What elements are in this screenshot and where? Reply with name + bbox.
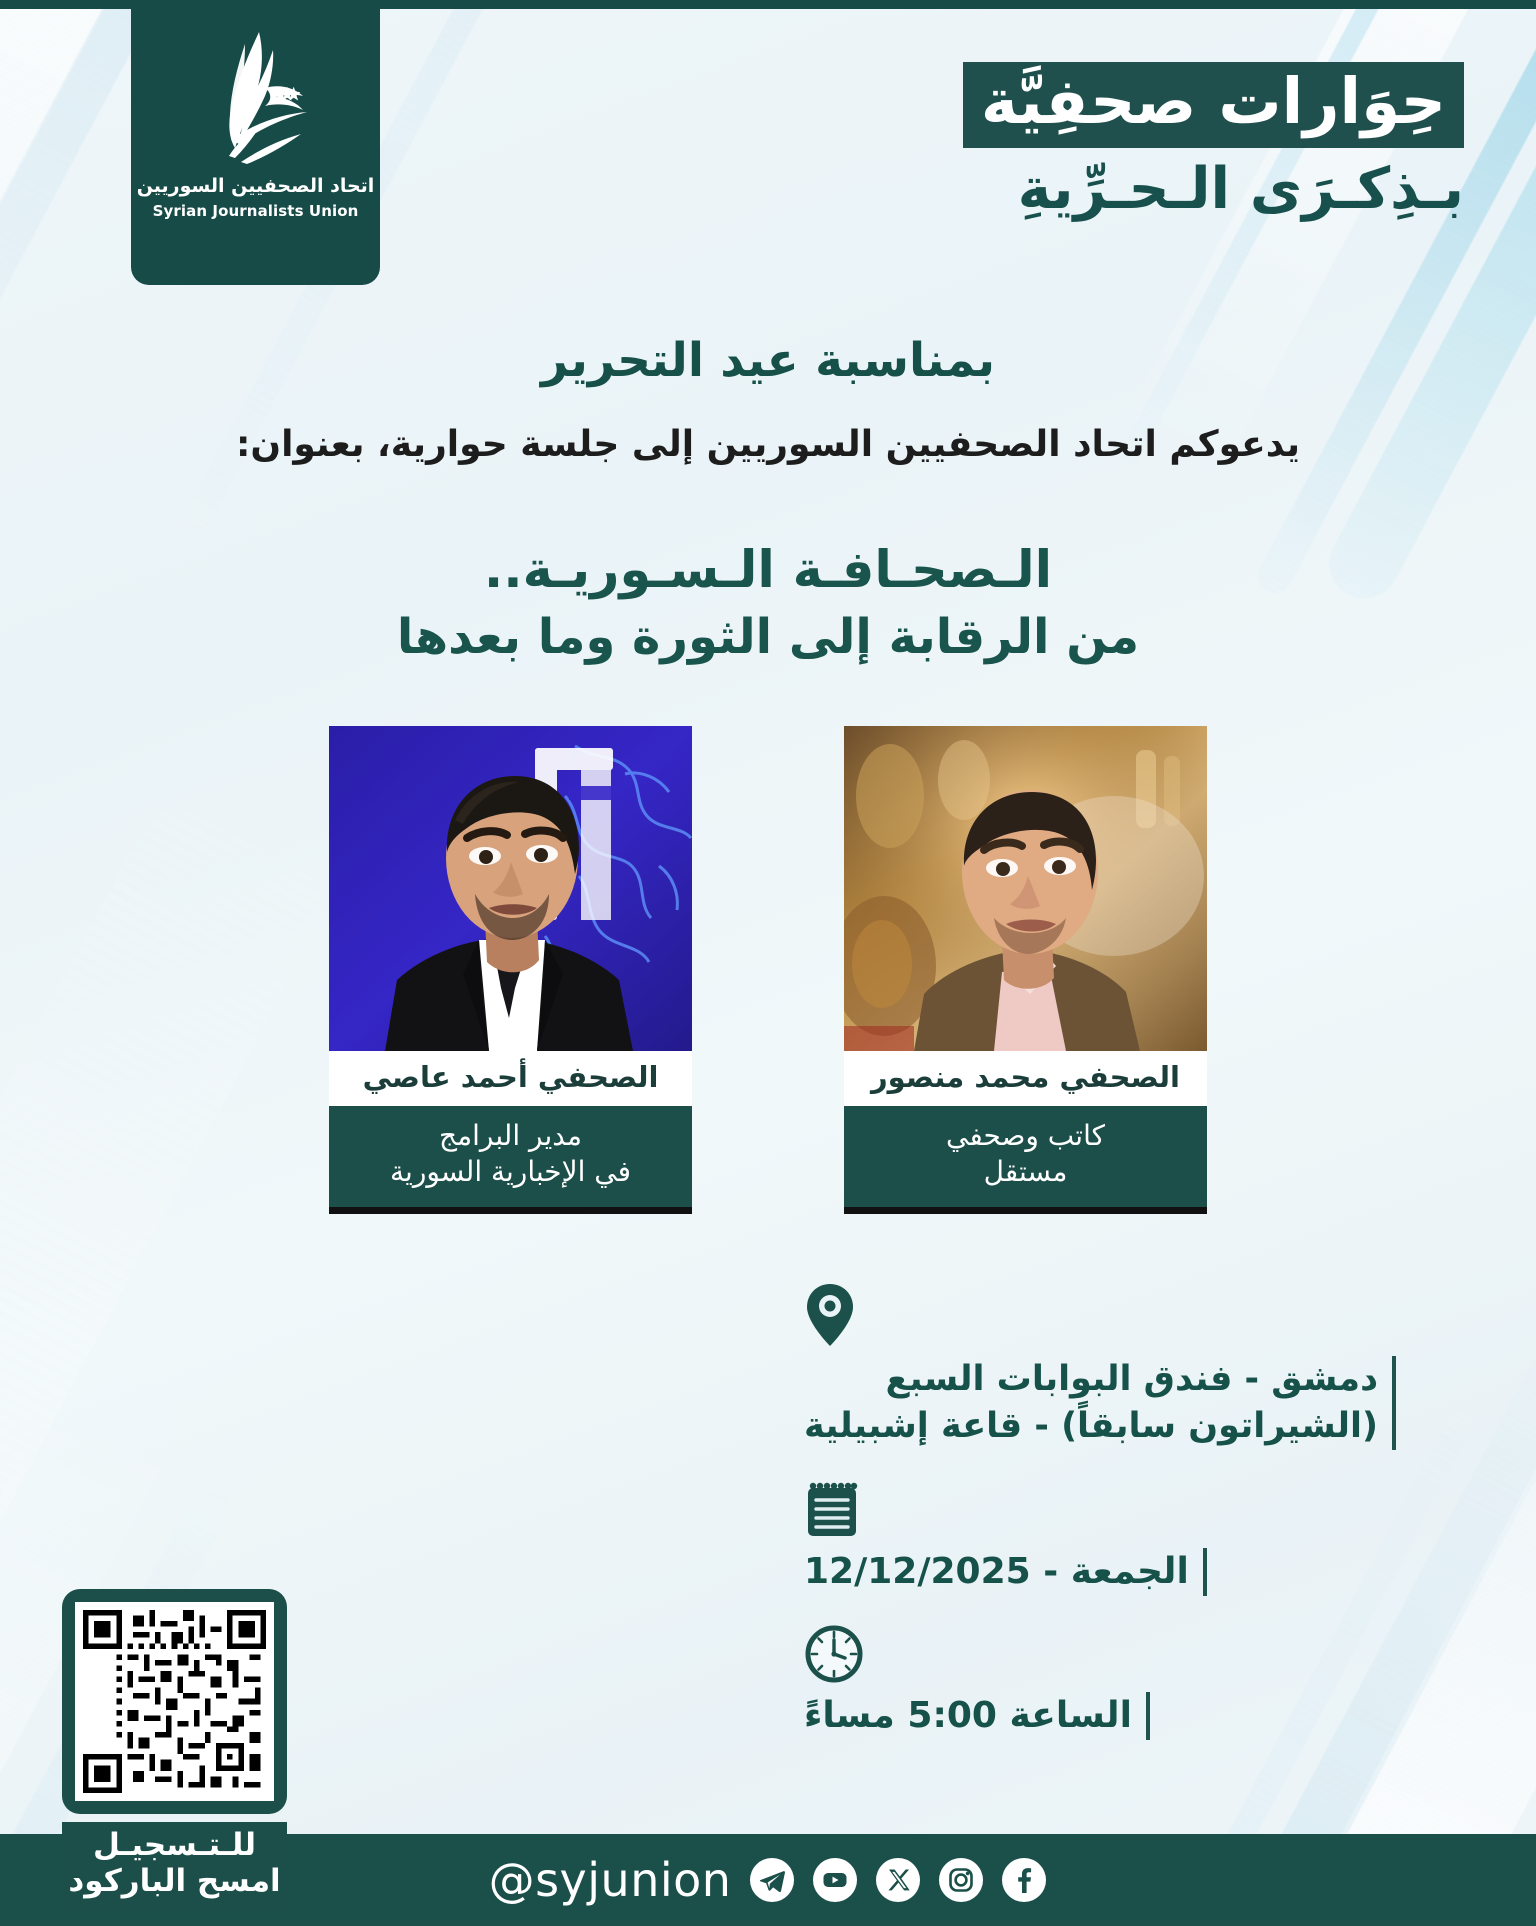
social-links (749, 1857, 1047, 1903)
detail-time: الساعة 5:00 مساءً (804, 1624, 1444, 1740)
feather-quill-stars-icon (181, 24, 331, 174)
location-line1: دمشق - فندق البوابات السبع (804, 1356, 1378, 1403)
map-pin-icon (804, 1282, 856, 1352)
speaker-name: الصحفي محمد منصور (844, 1051, 1207, 1106)
facebook-icon[interactable] (1001, 1857, 1047, 1903)
header-title-line1: حِوَارات صحفِيَّة (963, 62, 1464, 148)
logo-name-english: Syrian Journalists Union (153, 202, 359, 220)
speakers-list: الصحفي محمد منصور كاتب وصحفي مستقل (0, 726, 1536, 1214)
speaker-card: الصحفي أحمد عاصي مدير البرامج في الإخبار… (329, 726, 692, 1214)
event-poster: اتحاد الصحفيين السوريين Syrian Journalis… (0, 0, 1536, 1926)
social-handle[interactable]: @syjunion (489, 1853, 732, 1907)
clock-icon (804, 1624, 864, 1688)
invitation-text: يدعوكم اتحاد الصحفيين السوريين إلى جلسة … (0, 424, 1536, 465)
registration-label-line2: امسح الباركود (68, 1863, 280, 1899)
session-title-line2: من الرقابة إلى الثورة وما بعدها (0, 607, 1536, 668)
speaker-card: الصحفي محمد منصور كاتب وصحفي مستقل (844, 726, 1207, 1214)
registration-label: للـتـسجيـل امسح الباركود (62, 1822, 287, 1910)
speaker-name: الصحفي أحمد عاصي (329, 1051, 692, 1106)
instagram-icon[interactable] (938, 1857, 984, 1903)
organization-logo-panel: اتحاد الصحفيين السوريين Syrian Journalis… (131, 0, 380, 285)
session-title: الـصحـافـة الـسـوريـة.. من الرقابة إلى ا… (0, 538, 1536, 669)
header-title-line2: بـذِكـرَى الـحـرِّيةِ (963, 157, 1464, 223)
youtube-icon[interactable] (812, 1857, 858, 1903)
speaker-photo-ahmad-assi (329, 726, 692, 1051)
notepad-calendar-icon (804, 1480, 860, 1544)
qr-code-icon (75, 1602, 274, 1801)
registration-label-line1: للـتـسجيـل (66, 1828, 283, 1864)
registration-qr-block[interactable]: للـتـسجيـل امسح الباركود (62, 1589, 287, 1910)
session-title-line1: الـصحـافـة الـسـوريـة.. (0, 538, 1536, 603)
logo-name-arabic: اتحاد الصحفيين السوريين (137, 176, 375, 198)
event-date: الجمعة - 12/12/2025 (804, 1548, 1207, 1596)
speaker-role: كاتب وصحفي مستقل (844, 1106, 1207, 1214)
speaker-photo-mohammad-mansour (844, 726, 1207, 1051)
qr-card (62, 1589, 287, 1814)
location-line2: (الشيراتون سابقاً) - قاعة إشبيلية (804, 1403, 1378, 1450)
event-time: الساعة 5:00 مساءً (804, 1692, 1150, 1740)
detail-location: دمشق - فندق البوابات السبع (الشيراتون سا… (804, 1282, 1444, 1450)
telegram-icon[interactable] (749, 1857, 795, 1903)
x-twitter-icon[interactable] (875, 1857, 921, 1903)
event-details: دمشق - فندق البوابات السبع (الشيراتون سا… (804, 1282, 1444, 1740)
occasion-text: بمناسبة عيد التحرير (0, 333, 1536, 388)
detail-date: الجمعة - 12/12/2025 (804, 1480, 1444, 1596)
poster-header: حِوَارات صحفِيَّة بـذِكـرَى الـحـرِّيةِ (963, 62, 1464, 223)
speaker-role: مدير البرامج في الإخبارية السورية (329, 1106, 692, 1214)
